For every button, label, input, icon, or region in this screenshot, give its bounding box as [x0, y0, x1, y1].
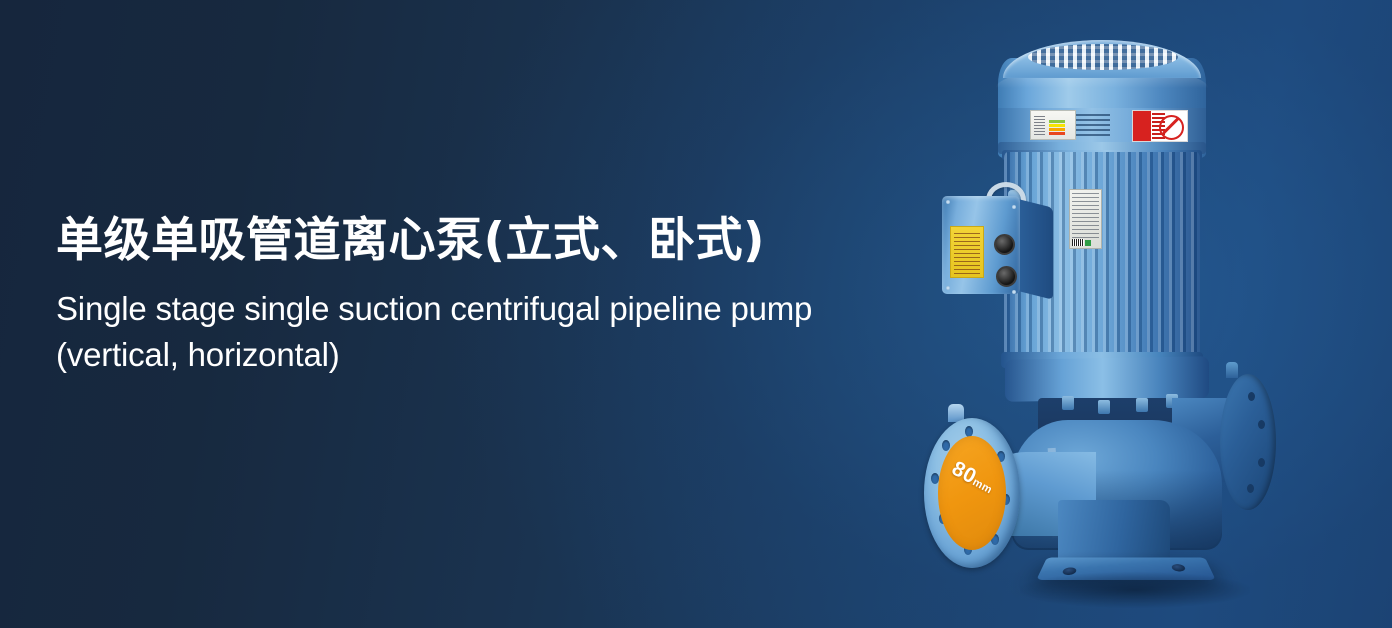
nameplate-text-rows: [1072, 193, 1099, 238]
page-subtitle-english: Single stage single suction centrifugal …: [56, 286, 876, 377]
coupling-bolt: [1062, 396, 1074, 410]
efficiency-label-text-block: [1076, 112, 1110, 136]
base-bolt-hole: [1171, 564, 1186, 571]
nameplate-barcode: [1072, 239, 1084, 246]
junction-box-screw: [1012, 290, 1016, 294]
junction-box-screw: [946, 286, 950, 290]
junction-box-side: [1015, 198, 1053, 299]
junction-box-screw: [946, 200, 950, 204]
warning-red-bar: [1133, 111, 1151, 141]
no-touch-prohibition-icon: [1159, 115, 1184, 140]
cable-gland-lower: [996, 266, 1017, 287]
flange-bolt-hole: [1258, 458, 1265, 467]
flange-bolt-hole: [1258, 420, 1265, 429]
cable-gland-upper: [994, 234, 1015, 255]
nameplate-green-mark: [1085, 240, 1091, 246]
motor-mounting-flange: [1005, 356, 1209, 402]
coupling-bolt: [1098, 400, 1110, 414]
product-banner: 单级单吸管道离心泵(立式、卧式) Single stage single suc…: [0, 0, 1392, 628]
motor-nameplate: [1069, 189, 1102, 249]
fan-grille-icon: [1028, 44, 1178, 70]
discharge-flange: [1220, 374, 1276, 510]
junction-box-wiring-label: [950, 226, 984, 278]
flange-bolt-hole: [1248, 392, 1255, 401]
banner-text-block: 单级单吸管道离心泵(立式、卧式) Single stage single suc…: [56, 212, 886, 377]
junction-box-screw: [1012, 205, 1016, 209]
page-title-chinese: 单级单吸管道离心泵(立式、卧式): [56, 212, 886, 270]
coupling-bolt: [1136, 398, 1148, 412]
flange-bolt-hole: [1247, 484, 1254, 493]
pump-product-image: 80mm: [890, 0, 1310, 628]
discharge-flange-lug: [1226, 362, 1238, 378]
warning-label-sticker: [1132, 110, 1188, 142]
efficiency-label-sticker: [1030, 110, 1076, 140]
pump-drop-shadow: [1020, 572, 1250, 608]
